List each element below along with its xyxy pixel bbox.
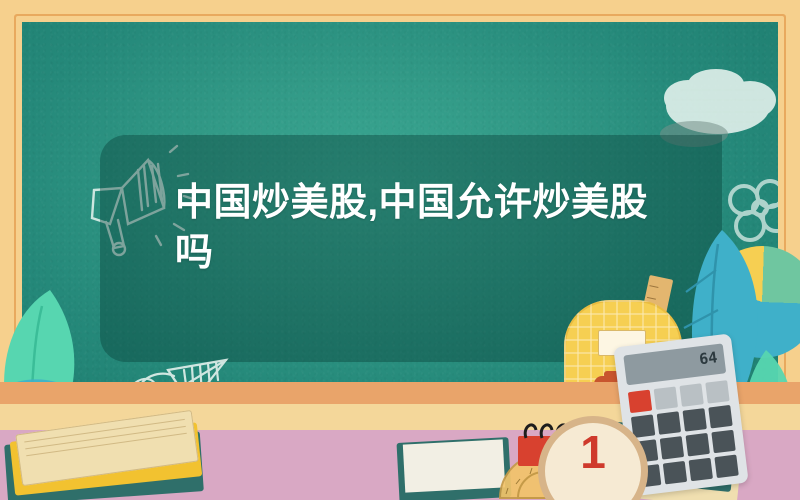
calculator-key xyxy=(660,436,684,460)
calculator-key xyxy=(663,461,687,485)
magnifying-glass: 1 xyxy=(538,416,648,500)
calculator-key xyxy=(708,405,732,429)
cover-image: 中国炒美股,中国允许炒美股吗 xyxy=(0,0,800,500)
calculator-display-value: 64 xyxy=(698,348,718,368)
calculator-key xyxy=(714,455,738,479)
calculator-key xyxy=(657,411,681,435)
calculator-key xyxy=(705,380,729,404)
calculator-key xyxy=(711,430,735,454)
calculator-key xyxy=(679,383,703,407)
book-center-pages xyxy=(403,439,505,492)
calculator-key xyxy=(654,386,678,410)
calculator-key xyxy=(686,433,710,457)
calculator-screen: 64 xyxy=(623,343,726,385)
calculator-key xyxy=(628,390,652,414)
calculator-key xyxy=(689,458,713,482)
calculator-key xyxy=(682,408,706,432)
page-title: 中国炒美股,中国允许炒美股吗 xyxy=(175,178,675,278)
magnifier-digit: 1 xyxy=(545,429,641,475)
